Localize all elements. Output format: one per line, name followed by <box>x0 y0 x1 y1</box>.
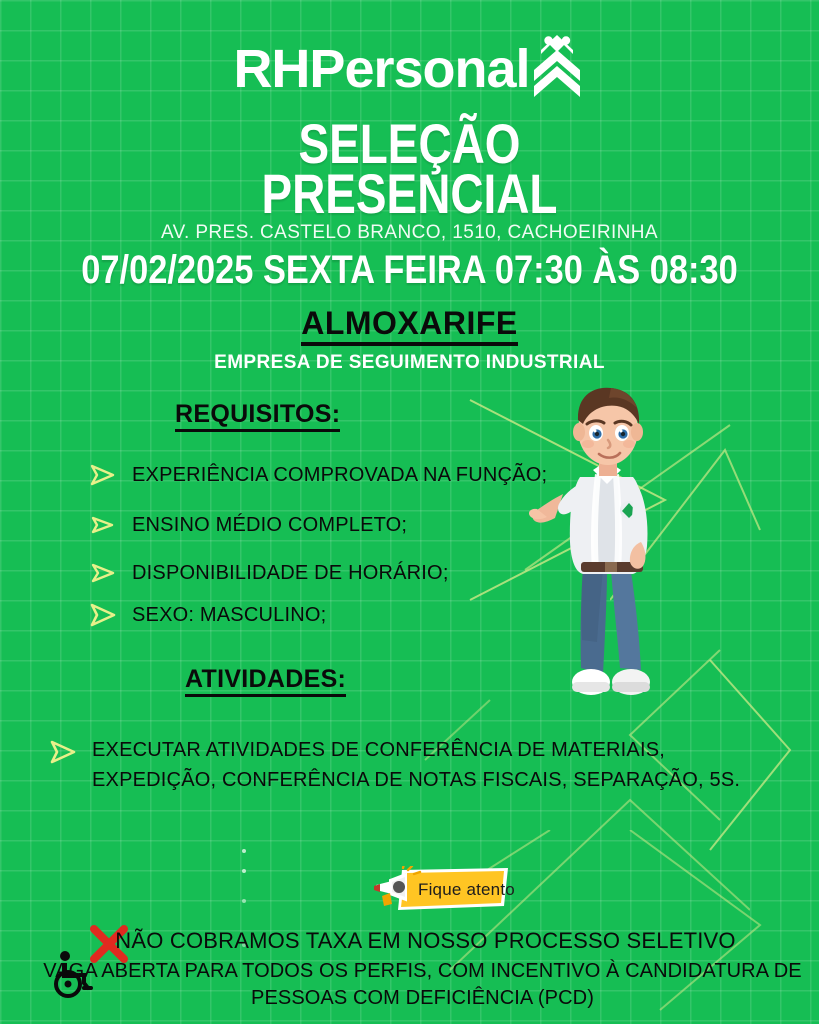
job-role-text: ALMOXARIFE <box>301 305 518 346</box>
chevron-bullet-icon <box>88 560 118 586</box>
event-datetime: 07/02/2025 SEXTA FEIRA 07:30 ÀS 08:30 <box>57 248 761 293</box>
company-description: EMPRESA DE SEGUIMENTO INDUSTRIAL <box>0 352 819 374</box>
requirement-item: EXPERIÊNCIA COMPROVADA NA FUNÇÃO; <box>88 462 547 488</box>
character-illustration <box>525 382 710 712</box>
chevron-bullet-icon <box>88 602 118 628</box>
activities-title: ATIVIDADES: <box>185 665 346 694</box>
activities-text: EXECUTAR ATIVIDADES DE CONFERÊNCIA DE MA… <box>92 735 778 795</box>
requirement-item: DISPONIBILIDADE DE HORÁRIO; <box>88 560 449 586</box>
job-posting-poster: RHPersonal SELEÇÃO PRESENCIAL AV. PRES. … <box>0 0 819 1024</box>
requirement-text: ENSINO MÉDIO COMPLETO; <box>132 514 407 537</box>
requirement-item: SEXO: MASCULINO; <box>88 602 326 628</box>
requirements-title: REQUISITOS: <box>175 400 340 429</box>
no-fee-notice: NÃO COBRAMOS TAXA EM NOSSO PROCESSO SELE… <box>0 928 819 954</box>
brand-logo: RHPersonal <box>0 38 819 100</box>
activities-title-text: ATIVIDADES: <box>185 665 346 697</box>
requirement-text: DISPONIBILIDADE DE HORÁRIO; <box>132 562 449 585</box>
headline-line-2: PRESENCIAL <box>74 168 746 220</box>
activities-item: EXECUTAR ATIVIDADES DE CONFERÊNCIA DE MA… <box>48 735 778 795</box>
event-address: AV. PRES. CASTELO BRANCO, 1510, CACHOEIR… <box>0 222 819 244</box>
job-role-title: ALMOXARIFE <box>0 305 819 342</box>
chevron-bullet-icon <box>88 512 118 538</box>
brand-name: RHPersonal <box>233 42 529 96</box>
requirement-text: SEXO: MASCULINO; <box>132 604 326 627</box>
requirement-text: EXPERIÊNCIA COMPROVADA NA FUNÇÃO; <box>132 464 547 487</box>
chevron-bullet-icon <box>48 739 78 765</box>
requirements-title-text: REQUISITOS: <box>175 400 340 432</box>
stacked-chevrons-people-icon <box>528 34 586 100</box>
pcd-notice: VAGA ABERTA PARA TODOS OS PERFIS, COM IN… <box>0 958 819 1012</box>
chevron-bullet-icon <box>88 462 118 488</box>
requirement-item: ENSINO MÉDIO COMPLETO; <box>88 512 407 538</box>
attention-badge-label: Fique atento <box>418 880 515 900</box>
